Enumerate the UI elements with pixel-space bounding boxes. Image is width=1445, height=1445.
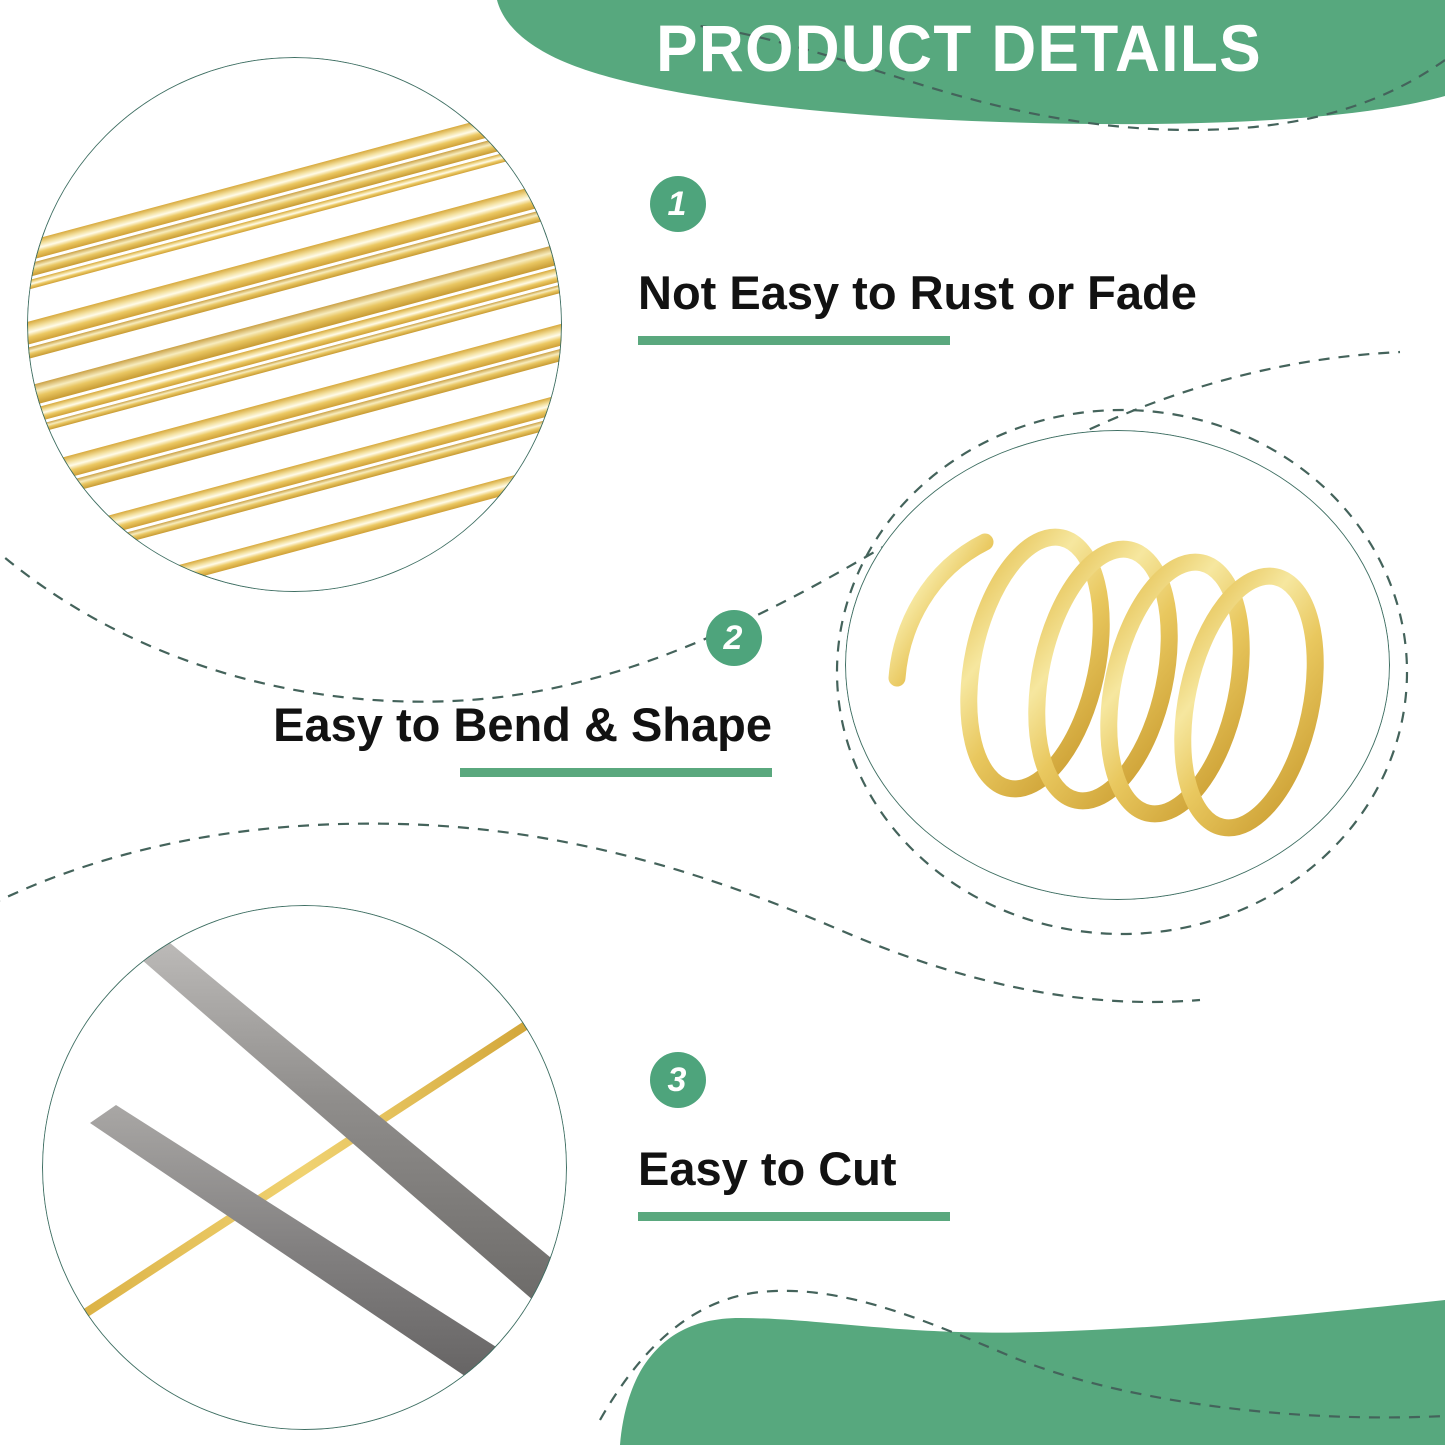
feature-title-2: Easy to Bend & Shape xyxy=(252,700,772,749)
page-title: PRODUCT DETAILS xyxy=(660,6,1262,90)
footer-wave-shape xyxy=(620,1300,1445,1445)
feature-badge-1: 1 xyxy=(650,176,706,232)
photo-scissors-inner xyxy=(42,905,567,1430)
feature-block-1: 1 Not Easy to Rust or Fade xyxy=(638,176,1197,345)
photo-coil-inner xyxy=(845,430,1390,900)
infographic-canvas: PRODUCT DETAILS xyxy=(0,0,1445,1445)
photo-wire-inner xyxy=(27,57,562,592)
feature-badge-3: 3 xyxy=(650,1052,706,1108)
feature-block-2: 2 Easy to Bend & Shape xyxy=(252,610,772,777)
photo-wire-strands xyxy=(27,57,562,592)
coil-spiral-illustration xyxy=(845,430,1390,900)
feature-underline-3 xyxy=(638,1212,950,1221)
wire-strands-illustration xyxy=(27,57,562,592)
feature-title-3: Easy to Cut xyxy=(638,1144,950,1193)
feature-underline-2 xyxy=(460,768,772,777)
photo-coil-spiral xyxy=(845,430,1390,900)
feature-title-1: Not Easy to Rust or Fade xyxy=(638,268,1197,317)
feature-block-3: 3 Easy to Cut xyxy=(638,1052,950,1221)
feature-underline-1 xyxy=(638,336,950,345)
scissors-illustration xyxy=(42,905,567,1430)
photo-scissors-cut xyxy=(42,905,567,1430)
feature-badge-2: 2 xyxy=(706,610,762,666)
